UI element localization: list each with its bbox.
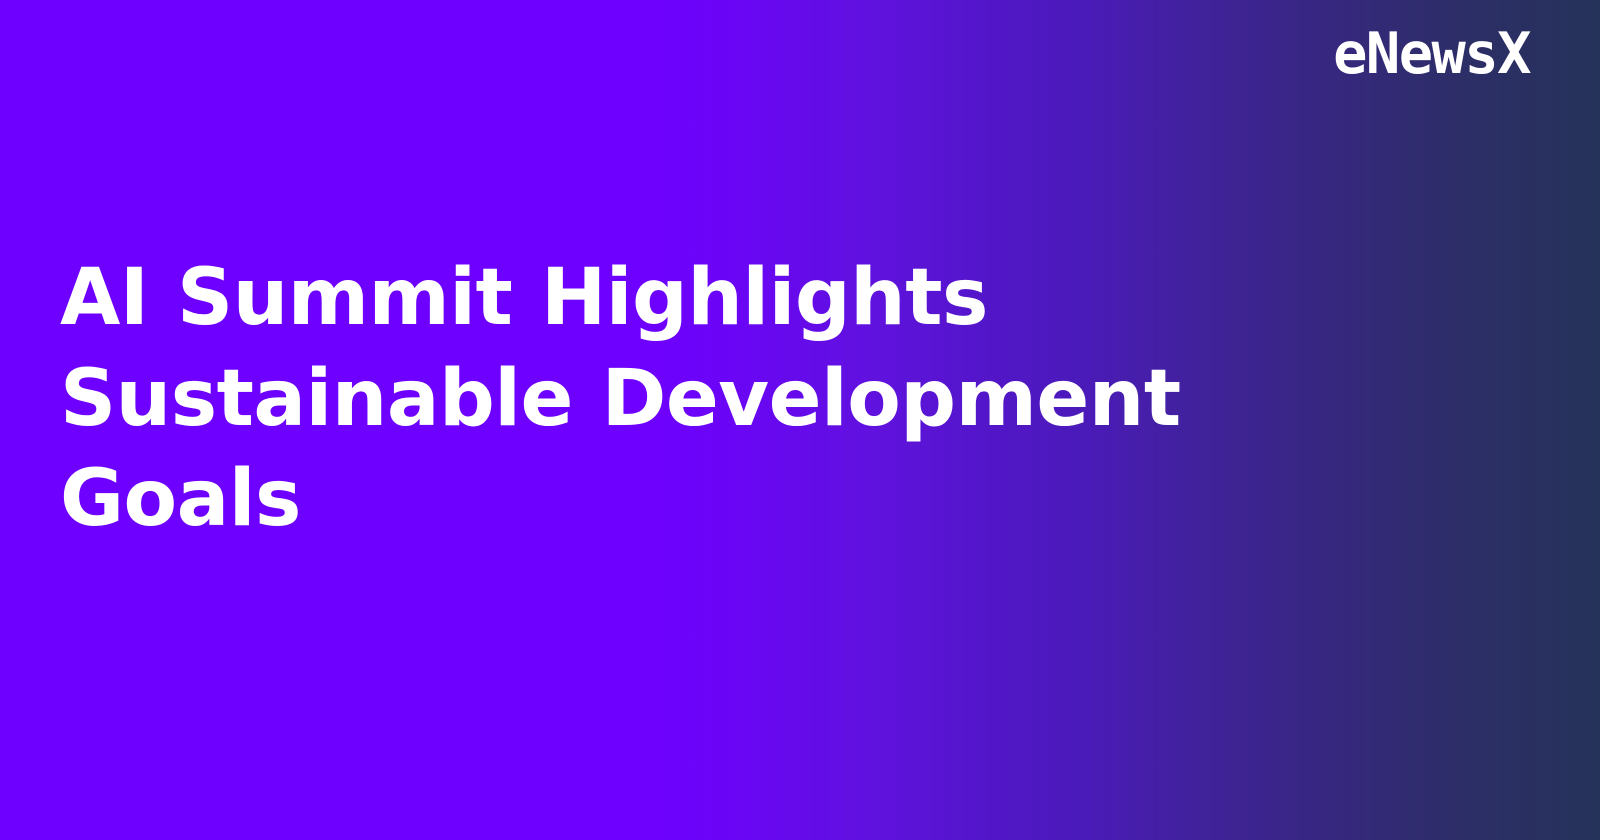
page-title: AI Summit Highlights Sustainable Develop…	[60, 248, 1360, 550]
headline-block: AI Summit Highlights Sustainable Develop…	[60, 248, 1360, 550]
brand-logo[interactable]: eNewsX	[1333, 26, 1530, 83]
news-headline-card: eNewsX AI Summit Highlights Sustainable …	[0, 0, 1600, 840]
